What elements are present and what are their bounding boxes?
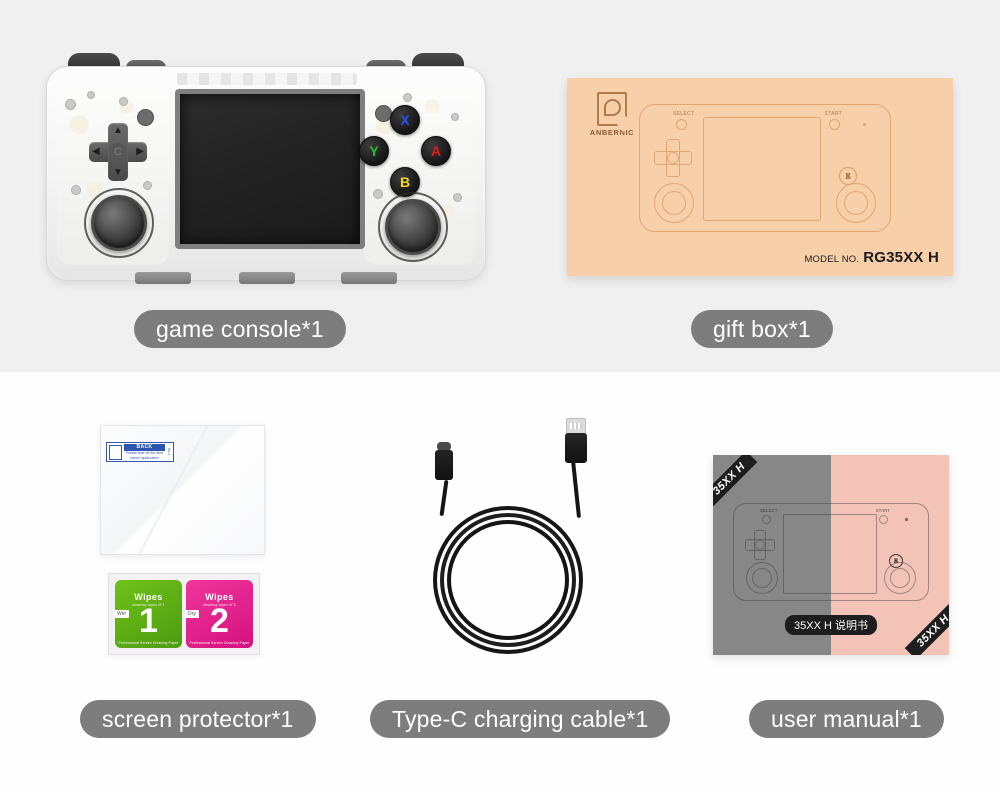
console-top-vents: [177, 73, 357, 85]
console-bottom-port-left: [135, 272, 191, 284]
gift-box-start-label: START: [825, 111, 842, 117]
dpad-down-icon: ▼: [113, 168, 123, 178]
manual-start-button-outline: [879, 515, 888, 524]
tempered-glass-sheet: BACK Please tear off the dust before app…: [100, 425, 265, 555]
dry-wipe-number: 2: [210, 606, 229, 636]
gift-box-dpad-hub: [667, 152, 679, 164]
manual-stick-left-inner: [752, 568, 772, 588]
dry-wipe-side-label: Dry: [185, 610, 199, 618]
dry-wipe-sachet: Wipes cleaning wipes N°2 2 Dry Professio…: [186, 580, 253, 648]
wet-wipe-side-label: Wet: [114, 610, 129, 618]
pcb-dot: [451, 113, 459, 121]
pcb-dot: [143, 181, 152, 190]
gift-box-model-info: MODEL NO. RG35XX H: [804, 249, 939, 266]
usb-a-boot: [565, 433, 587, 463]
usb-a-shell: [566, 418, 586, 434]
gift-box-select-label: SELECT: [673, 111, 694, 117]
caption-screen-protector: screen protector*1: [80, 700, 316, 738]
cable-coil-inner: [447, 520, 569, 640]
anbernic-logo-text: ANBERNIC: [585, 128, 639, 137]
button-x[interactable]: X: [390, 105, 420, 135]
caption-game-console: game console*1: [134, 310, 346, 348]
gift-box-stick-left-inner: [662, 191, 686, 215]
protector-tab-note: Please tear off the dust before applicat…: [124, 451, 165, 460]
button-a[interactable]: A: [421, 136, 451, 166]
dpad-hub: C: [109, 143, 127, 161]
cable-lead-right: [571, 460, 581, 518]
charging-cable-image: [415, 418, 605, 666]
manual-stick-right-inner: [890, 568, 910, 588]
dpad[interactable]: ▲ ▼ ◀ ▶ C: [89, 123, 147, 181]
wet-wipe-sachet: Wipes cleaning wipes N°1 1 Wet Professio…: [115, 580, 182, 648]
pcb-dot: [87, 91, 95, 99]
console-shell: ▲ ▼ ◀ ▶ C X Y A B: [46, 66, 486, 281]
console-screen: [175, 89, 365, 249]
dpad-right-icon: ▶: [136, 147, 144, 157]
pcb-dot: [403, 93, 412, 102]
gift-box-led-outline: [863, 123, 866, 126]
pcb-dot: [453, 193, 462, 202]
manual-select-button-outline: [762, 515, 771, 524]
protector-tab-body: BACK Please tear off the dust before app…: [124, 444, 165, 460]
manual-dpad-outline: [745, 530, 775, 560]
screen-protector-image: BACK Please tear off the dust before app…: [100, 425, 270, 665]
console-bottom-port-center: [239, 272, 295, 284]
game-console-image: ▲ ▼ ◀ ▶ C X Y A B: [46, 58, 486, 293]
wet-wipe-footer: Professional Screen Cleaning Paper: [119, 641, 179, 645]
manual-select-label: SELECT: [760, 508, 778, 513]
gift-box-dpad-outline: [654, 139, 692, 177]
manual-console-outline: SELECT START X Y A B: [733, 503, 929, 601]
manual-screen-outline: [783, 514, 877, 594]
model-number-value: RG35XX H: [863, 249, 939, 266]
caption-user-manual: user manual*1: [749, 700, 944, 738]
protector-tab-badge: BACK: [124, 444, 165, 451]
anbernic-logo-mark-icon: [597, 92, 627, 126]
wet-wipe-subtitle: cleaning wipes N°1: [132, 603, 164, 607]
peel-film-icon: [109, 445, 122, 460]
dry-wipe-title: Wipes: [205, 592, 233, 602]
package-contents-page: ▲ ▼ ◀ ▶ C X Y A B game console*1: [0, 0, 1000, 791]
usb-c-boot: [435, 450, 453, 480]
button-y[interactable]: Y: [359, 136, 389, 166]
pcb-dot: [119, 97, 128, 106]
manual-led-outline: [905, 518, 908, 521]
face-button-cluster[interactable]: X Y A B: [359, 105, 451, 197]
usb-c-connector: [435, 442, 453, 486]
dry-wipe-footer: Professional Screen Cleaning Paper: [190, 641, 250, 645]
gift-box-image: ANBERNIC SELECT START X Y A B: [567, 78, 953, 276]
usb-a-connector: [565, 418, 587, 464]
analog-stick-right[interactable]: [385, 199, 441, 255]
cleaning-wipes-pack: Wipes cleaning wipes N°1 1 Wet Professio…: [108, 573, 260, 655]
wet-wipe-title: Wipes: [134, 592, 162, 602]
gift-box-face-buttons-outline: X Y A B: [820, 129, 876, 185]
gift-box-select-button-outline: [676, 119, 687, 130]
anbernic-logo: ANBERNIC: [585, 92, 639, 137]
caption-gift-box: gift box*1: [691, 310, 833, 348]
manual-dpad-hub: [755, 540, 765, 550]
pcb-dot: [71, 185, 81, 195]
dry-wipe-subtitle: cleaning wipes N°2: [203, 603, 235, 607]
protector-instruction-tab: BACK Please tear off the dust before app…: [106, 442, 174, 462]
user-manual-image: SELECT START X Y A B 35XX H 说明书 35XX H: [713, 455, 949, 655]
manual-start-label: START: [876, 508, 890, 513]
console-bottom-port-right: [341, 272, 397, 284]
analog-stick-left[interactable]: [91, 195, 147, 251]
dpad-up-icon: ▲: [113, 126, 123, 136]
gift-box-stick-right-inner: [844, 191, 868, 215]
model-number-label: MODEL NO.: [804, 254, 859, 265]
gift-box-console-outline: SELECT START X Y A B: [639, 104, 891, 232]
protector-tab-side-text: No.1: [167, 448, 171, 455]
caption-charging-cable: Type-C charging cable*1: [370, 700, 670, 738]
dpad-left-icon: ◀: [92, 147, 100, 157]
gift-box-screen-outline: [703, 117, 821, 221]
manual-title-badge: 35XX H 说明书: [785, 615, 877, 635]
pcb-dot: [65, 99, 76, 110]
wet-wipe-number: 1: [139, 606, 158, 636]
